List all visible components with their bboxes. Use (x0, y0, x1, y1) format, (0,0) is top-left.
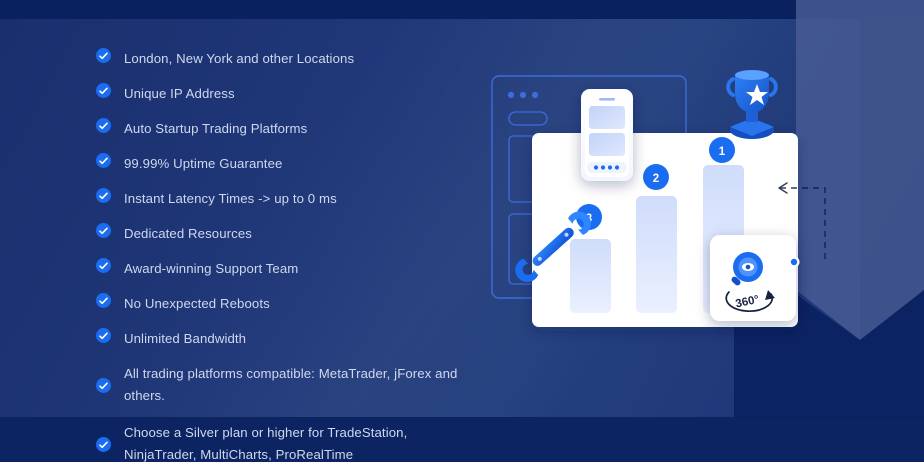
check-circle-icon (96, 437, 111, 452)
phone-mockup (581, 89, 633, 181)
bar-badge-2: 2 (643, 164, 669, 190)
list-item-label: Award-winning Support Team (124, 258, 298, 280)
bar-3 (570, 239, 611, 313)
trophy-icon (728, 70, 776, 139)
list-item: Unlimited Bandwidth (96, 328, 476, 350)
check-circle-icon (96, 293, 111, 308)
analytics-dashboard-illustration: 3 2 1 (484, 62, 844, 352)
bar-2 (636, 196, 677, 313)
check-circle-icon (96, 153, 111, 168)
check-circle-icon (96, 188, 111, 203)
check-circle-icon (96, 118, 111, 133)
list-item: Unique IP Address (96, 83, 476, 105)
list-item-label: Unique IP Address (124, 83, 235, 105)
check-circle-icon (96, 223, 111, 238)
bar-badge-1: 1 (709, 137, 735, 163)
check-circle-icon (96, 378, 111, 393)
svg-text:1: 1 (719, 146, 726, 158)
connector-node-dot (789, 257, 800, 268)
feature-list: London, New York and other Locations Uni… (96, 48, 476, 462)
list-item-label: All trading platforms compatible: MetaTr… (124, 363, 476, 407)
list-item-label: 99.99% Uptime Guarantee (124, 153, 282, 175)
list-item-label: Dedicated Resources (124, 223, 252, 245)
list-item-label: Auto Startup Trading Platforms (124, 118, 307, 140)
list-item-label: No Unexpected Reboots (124, 293, 270, 315)
list-item-label: Choose a Silver plan or higher for Trade… (124, 422, 476, 462)
list-item: Dedicated Resources (96, 223, 476, 245)
hero-section: London, New York and other Locations Uni… (0, 0, 924, 462)
list-item: No Unexpected Reboots (96, 293, 476, 315)
list-item: 99.99% Uptime Guarantee (96, 153, 476, 175)
list-item: All trading platforms compatible: MetaTr… (96, 363, 476, 407)
check-circle-icon (96, 83, 111, 98)
check-circle-icon (96, 258, 111, 273)
list-item: London, New York and other Locations (96, 48, 476, 70)
list-item: Choose a Silver plan or higher for Trade… (96, 422, 476, 462)
check-circle-icon (96, 328, 111, 343)
check-circle-icon (96, 48, 111, 63)
360-view-badge: 360° (710, 235, 796, 321)
list-item-label: London, New York and other Locations (124, 48, 354, 70)
list-item: Instant Latency Times -> up to 0 ms (96, 188, 476, 210)
list-item-label: Instant Latency Times -> up to 0 ms (124, 188, 337, 210)
list-item: Award-winning Support Team (96, 258, 476, 280)
svg-text:2: 2 (653, 173, 659, 185)
list-item: Auto Startup Trading Platforms (96, 118, 476, 140)
list-item-label: Unlimited Bandwidth (124, 328, 246, 350)
